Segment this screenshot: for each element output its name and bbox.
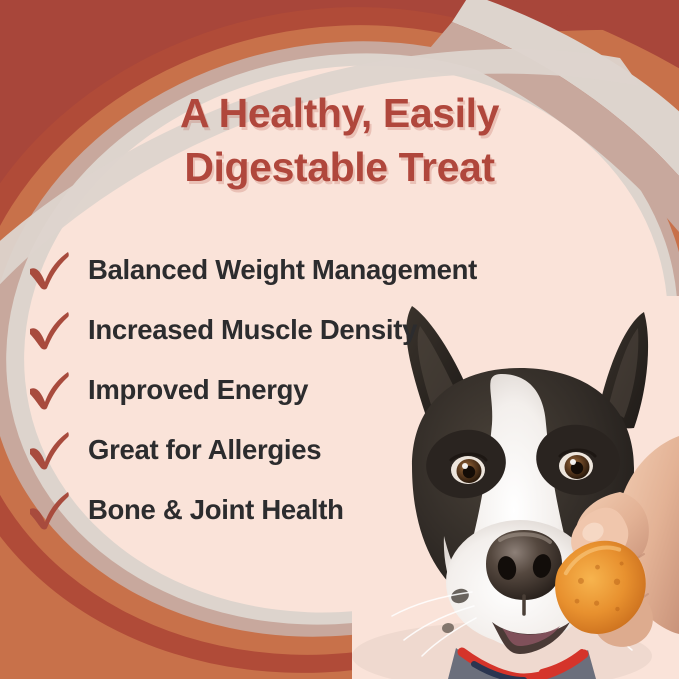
poster-content: A Healthy, Easily Digestable Treat Balan…: [0, 0, 679, 679]
page-title: A Healthy, Easily Digestable Treat: [0, 86, 679, 194]
list-item-label: Improved Energy: [88, 376, 308, 404]
checkmark-icon: [26, 247, 74, 293]
list-item: Improved Energy: [26, 360, 646, 420]
page-title-line-2: Digestable Treat: [60, 140, 619, 194]
list-item-label: Bone & Joint Health: [88, 496, 344, 524]
list-item: Bone & Joint Health: [26, 480, 646, 540]
list-item-label: Increased Muscle Density: [88, 316, 417, 344]
benefits-checklist: Balanced Weight Management Increased Mus…: [26, 240, 646, 540]
list-item-label: Balanced Weight Management: [88, 256, 477, 284]
checkmark-icon: [26, 427, 74, 473]
product-benefits-poster: A Healthy, Easily Digestable Treat Balan…: [0, 0, 679, 679]
page-title-line-1: A Healthy, Easily: [60, 86, 619, 140]
list-item: Great for Allergies: [26, 420, 646, 480]
list-item-label: Great for Allergies: [88, 436, 321, 464]
list-item: Increased Muscle Density: [26, 300, 646, 360]
checkmark-icon: [26, 307, 74, 353]
checkmark-icon: [26, 367, 74, 413]
list-item: Balanced Weight Management: [26, 240, 646, 300]
checkmark-icon: [26, 487, 74, 533]
